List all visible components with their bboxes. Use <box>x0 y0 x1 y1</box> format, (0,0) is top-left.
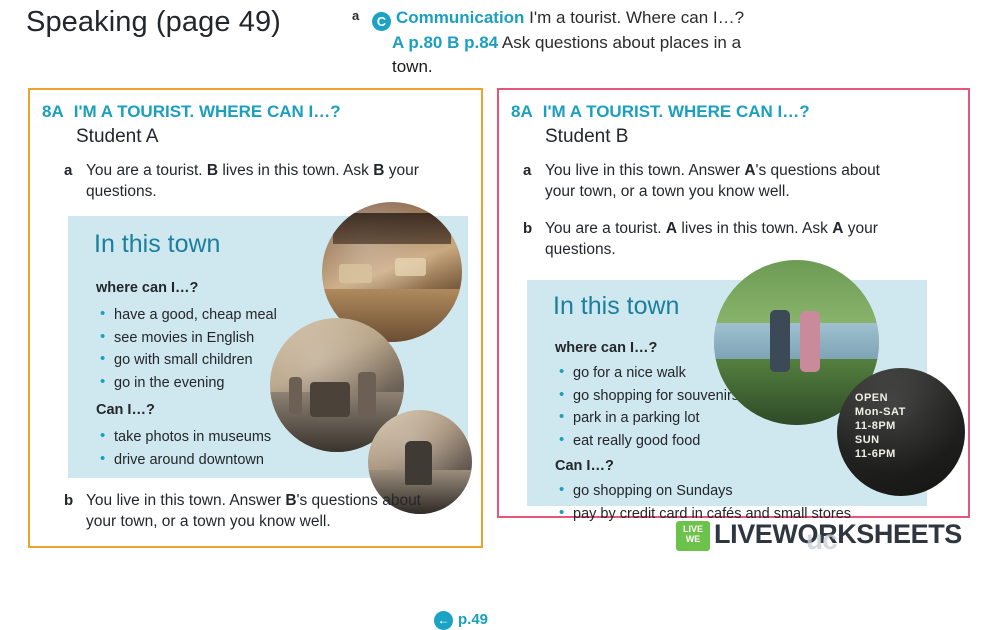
list-item: drive around downtown <box>98 449 271 472</box>
panel-b-item-b-line2: questions. <box>545 239 955 260</box>
list-item: go in the evening <box>98 372 277 395</box>
panel-a-item-a-ref1: B <box>207 162 218 179</box>
communication-line: CCommunication I'm a tourist. Where can … <box>372 8 744 31</box>
panel-a-box-title: In this town <box>94 230 220 259</box>
panel-b-item-a-text-post: 's questions about <box>756 162 880 179</box>
panel-b-item-b-ref2: A <box>832 220 843 237</box>
ask-questions-text-line2: town. <box>392 57 433 77</box>
panel-b-box-bullets1: go for a nice walk go shopping for souve… <box>557 362 739 452</box>
panel-b-item-a: a You live in this town. Answer A's ques… <box>545 160 955 202</box>
panel-a-item-a: a You are a tourist. B lives in this tow… <box>86 160 476 202</box>
watermark-text: uc <box>806 524 837 556</box>
badge-line-1: LIVE <box>683 524 703 534</box>
panel-a-item-a-text-post: your <box>384 162 418 179</box>
panel-b-item-b-text-pre: You are a tourist. <box>545 220 666 237</box>
panel-a-item-b-marker: b <box>64 490 73 511</box>
panel-a-item-b-text-pre: You live in this town. Answer <box>86 492 285 509</box>
panel-b-item-b-text-mid: lives in this town. Ask <box>677 220 832 237</box>
list-item: go shopping on Sundays <box>557 480 851 503</box>
panel-b-number: 8A <box>511 102 533 121</box>
panel-b-item-a-line2: your town, or a town you know well. <box>545 181 955 202</box>
ab-page-refs: A p.80 B p.84 <box>392 33 498 52</box>
back-arrow-icon[interactable]: ← <box>434 611 453 630</box>
list-item: go shopping for souvenirs <box>557 385 739 408</box>
list-item: see movies in English <box>98 327 277 350</box>
panel-a-item-b: b You live in this town. Answer B's ques… <box>86 490 466 532</box>
panel-a-item-a-ref2: B <box>373 162 384 179</box>
communication-badge-icon: C <box>372 12 391 31</box>
panel-a-item-b-ref1: B <box>285 492 296 509</box>
photo-chalkboard-hours: OPENMon-SAT11-8PMSUN11-6PM <box>837 368 965 496</box>
panel-a-student-label: Student A <box>76 126 158 148</box>
panel-a-item-b-text-post: 's questions about <box>297 492 421 509</box>
panel-b-heading: 8AI'M A TOURIST. WHERE CAN I…? <box>511 102 810 122</box>
panel-a-title: I'M A TOURIST. WHERE CAN I…? <box>74 102 341 121</box>
panel-b-item-a-ref1: A <box>744 162 755 179</box>
communication-label: Communication <box>396 8 524 27</box>
liveworksheets-badge-icon: LIVE WE <box>676 521 710 551</box>
list-item: go for a nice walk <box>557 362 739 385</box>
section-letter-a: a <box>352 8 359 23</box>
list-item: eat really good food <box>557 430 739 453</box>
panel-a-box-bullets2: take photos in museums drive around down… <box>98 426 271 471</box>
panel-a-item-b-line2: your town, or a town you know well. <box>86 511 466 532</box>
badge-line-2: WE <box>686 534 701 544</box>
panel-a-item-a-line2: questions. <box>86 181 476 202</box>
panel-b-item-b-ref1: A <box>666 220 677 237</box>
panel-a-box-sub2: Can I…? <box>96 402 155 418</box>
list-item: have a good, cheap meal <box>98 304 277 327</box>
panel-student-a: 8AI'M A TOURIST. WHERE CAN I…? Student A… <box>28 88 483 548</box>
list-item: go with small children <box>98 349 277 372</box>
communication-text: I'm a tourist. Where can I…? <box>524 8 744 27</box>
panel-b-item-b-marker: b <box>523 218 532 239</box>
panel-b-box-title: In this town <box>553 292 679 321</box>
page-title: Speaking (page 49) <box>26 6 281 39</box>
panel-b-box-sub2: Can I…? <box>555 458 614 474</box>
panel-a-item-a-text-pre: You are a tourist. <box>86 162 207 179</box>
panel-b-title: I'M A TOURIST. WHERE CAN I…? <box>543 102 810 121</box>
liveworksheets-wordmark: LIVEWORKSHEETS <box>714 519 962 550</box>
panel-b-item-b: b You are a tourist. A lives in this tow… <box>545 218 955 260</box>
panel-a-box-sub1: where can I…? <box>96 280 198 296</box>
panel-a-item-a-marker: a <box>64 160 72 181</box>
panel-a-heading: 8AI'M A TOURIST. WHERE CAN I…? <box>42 102 341 122</box>
panel-b-item-a-text-pre: You live in this town. Answer <box>545 162 744 179</box>
panel-b-box-sub1: where can I…? <box>555 340 657 356</box>
panel-b-student-label: Student B <box>545 126 628 148</box>
page-header: Speaking (page 49) a CCommunication I'm … <box>0 0 999 84</box>
panel-b-item-a-marker: a <box>523 160 531 181</box>
panel-student-b: 8AI'M A TOURIST. WHERE CAN I…? Student B… <box>497 88 970 518</box>
page-reference-p49[interactable]: p.49 <box>458 611 488 628</box>
panel-b-item-b-text-post: your <box>843 220 877 237</box>
panel-a-item-a-text-mid: lives in this town. Ask <box>218 162 373 179</box>
list-item: take photos in museums <box>98 426 271 449</box>
panel-a-number: 8A <box>42 102 64 121</box>
list-item: park in a parking lot <box>557 407 739 430</box>
panel-a-box-bullets1: have a good, cheap meal see movies in En… <box>98 304 277 394</box>
ask-questions-text: Ask questions about places in a <box>498 33 741 52</box>
communication-refs-line: A p.80 B p.84 Ask questions about places… <box>392 33 741 53</box>
